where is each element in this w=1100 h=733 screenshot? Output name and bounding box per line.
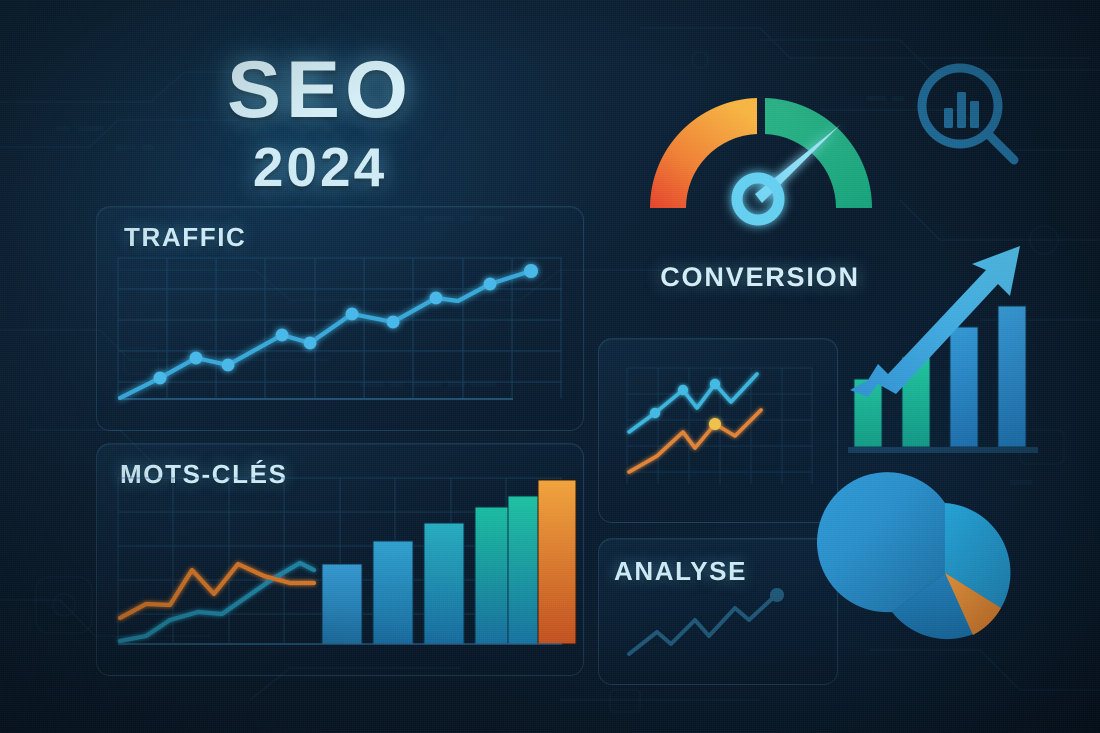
analyse-line bbox=[629, 596, 775, 654]
analyse-title: ANALYSE bbox=[614, 556, 747, 587]
keywords-overlay-series bbox=[120, 555, 318, 641]
traffic-data-markers bbox=[154, 264, 538, 384]
mini-orange-marker bbox=[709, 418, 721, 430]
traffic-line-chart bbox=[118, 258, 562, 414]
keywords-bars bbox=[322, 480, 576, 644]
share-pie-chart bbox=[870, 498, 1020, 648]
growth-bars-base bbox=[848, 447, 1038, 453]
growth-bar-chart bbox=[848, 222, 1084, 454]
page-subtitle-year: 2024 bbox=[120, 135, 520, 199]
mini-cyan-markers bbox=[650, 379, 720, 418]
search-chart-icon[interactable] bbox=[906, 56, 1028, 178]
growth-arrow-icon bbox=[850, 246, 1020, 397]
analyse-trend-line bbox=[625, 588, 811, 666]
traffic-series bbox=[120, 264, 538, 398]
mini-dual-line-chart bbox=[627, 368, 813, 500]
bars-inside-lens bbox=[944, 92, 979, 128]
title-block: SEO 2024 bbox=[120, 52, 520, 199]
mini-cyan-line bbox=[629, 374, 757, 432]
keywords-bar-chart bbox=[118, 478, 562, 660]
traffic-gridlines bbox=[118, 258, 562, 398]
page-title: SEO bbox=[120, 52, 520, 130]
gauge-needle bbox=[737, 125, 840, 220]
infographic-canvas: SEO 2024 bbox=[0, 0, 1100, 733]
traffic-title: TRAFFIC bbox=[124, 222, 246, 253]
analyse-end-marker bbox=[770, 588, 784, 602]
